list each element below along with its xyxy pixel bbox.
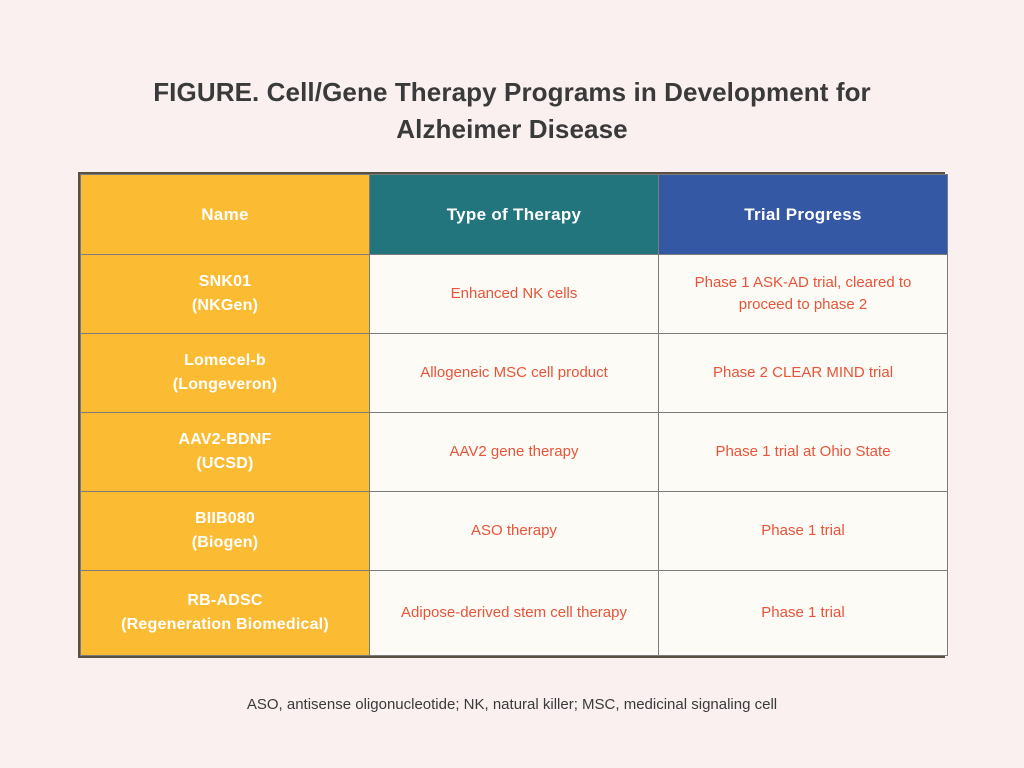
cell-name: Lomecel-b (Longeveron)	[81, 334, 370, 413]
program-name: RB-ADSC	[91, 589, 359, 613]
table-row: AAV2-BDNF (UCSD) AAV2 gene therapy Phase…	[81, 413, 948, 492]
table-row: BIIB080 (Biogen) ASO therapy Phase 1 tri…	[81, 492, 948, 571]
program-name: Lomecel-b	[91, 349, 359, 373]
figure-title: FIGURE. Cell/Gene Therapy Programs in De…	[92, 74, 932, 148]
cell-trial-progress: Phase 1 ASK-AD trial, cleared to proceed…	[659, 255, 948, 334]
table-header-row: Name Type of Therapy Trial Progress	[81, 175, 948, 255]
cell-therapy-type: ASO therapy	[370, 492, 659, 571]
program-name: SNK01	[91, 270, 359, 294]
figure-page: FIGURE. Cell/Gene Therapy Programs in De…	[0, 0, 1024, 768]
cell-trial-progress: Phase 1 trial at Ohio State	[659, 413, 948, 492]
cell-name: AAV2-BDNF (UCSD)	[81, 413, 370, 492]
program-sponsor: (Longeveron)	[91, 373, 359, 397]
cell-trial-progress: Phase 1 trial	[659, 571, 948, 656]
cell-therapy-type: AAV2 gene therapy	[370, 413, 659, 492]
cell-trial-progress: Phase 1 trial	[659, 492, 948, 571]
cell-therapy-type: Enhanced NK cells	[370, 255, 659, 334]
program-name: BIIB080	[91, 507, 359, 531]
table-body: SNK01 (NKGen) Enhanced NK cells Phase 1 …	[81, 255, 948, 656]
programs-table: Name Type of Therapy Trial Progress SNK0…	[80, 174, 948, 656]
programs-table-container: Name Type of Therapy Trial Progress SNK0…	[78, 172, 945, 658]
column-header-trial: Trial Progress	[659, 175, 948, 255]
program-sponsor: (NKGen)	[91, 294, 359, 318]
column-header-type: Type of Therapy	[370, 175, 659, 255]
program-name: AAV2-BDNF	[91, 428, 359, 452]
table-row: Lomecel-b (Longeveron) Allogeneic MSC ce…	[81, 334, 948, 413]
cell-therapy-type: Allogeneic MSC cell product	[370, 334, 659, 413]
cell-name: RB-ADSC (Regeneration Biomedical)	[81, 571, 370, 656]
program-sponsor: (Biogen)	[91, 531, 359, 555]
program-sponsor: (UCSD)	[91, 452, 359, 476]
table-row: RB-ADSC (Regeneration Biomedical) Adipos…	[81, 571, 948, 656]
program-sponsor: (Regeneration Biomedical)	[91, 613, 359, 637]
table-header: Name Type of Therapy Trial Progress	[81, 175, 948, 255]
cell-name: BIIB080 (Biogen)	[81, 492, 370, 571]
cell-trial-progress: Phase 2 CLEAR MIND trial	[659, 334, 948, 413]
cell-name: SNK01 (NKGen)	[81, 255, 370, 334]
figure-footnote: ASO, antisense oligonucleotide; NK, natu…	[0, 696, 1024, 713]
column-header-name: Name	[81, 175, 370, 255]
table-row: SNK01 (NKGen) Enhanced NK cells Phase 1 …	[81, 255, 948, 334]
cell-therapy-type: Adipose-derived stem cell therapy	[370, 571, 659, 656]
